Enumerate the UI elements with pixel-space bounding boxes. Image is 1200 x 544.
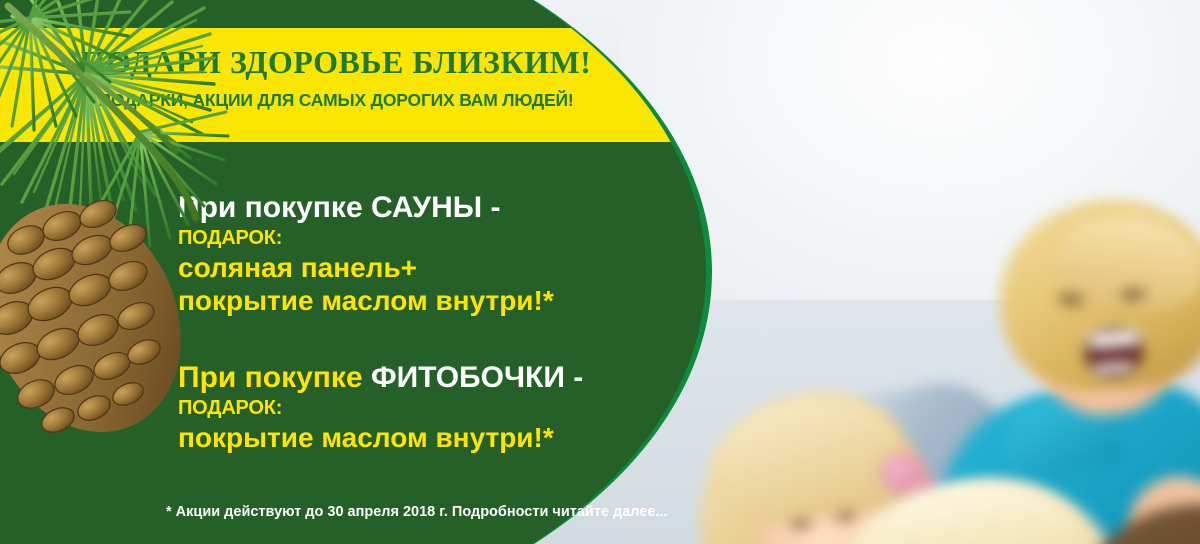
offer-fitobochka-intro: При покупке [178, 361, 371, 394]
offer-fitobochka-headline: При покупке ФИТОБОЧКИ - [178, 362, 583, 394]
disclaimer-text: * Акции действуют до 30 апреля 2018 г. П… [166, 504, 668, 520]
offer-fitobochka-dash: - [565, 361, 583, 394]
offer-sauna-product: САУНЫ [371, 191, 482, 224]
pine-cone-icon [0, 168, 192, 438]
offer-fitobochka-prize-1: покрытие маслом внутри!* [178, 421, 583, 455]
offer-fitobochka-gift-label: ПОДАРОК: [178, 396, 583, 421]
offer-sauna-dash: - [482, 191, 500, 224]
offer-fitobochka-product: ФИТОБОЧКИ [371, 361, 565, 394]
offer-fitobochka: При покупке ФИТОБОЧКИ - ПОДАРОК: покрыти… [178, 362, 583, 454]
promo-banner: ПОДАРИ ЗДОРОВЬЕ БЛИЗКИМ! ПОДАРКИ, АКЦИИ … [0, 0, 1200, 544]
